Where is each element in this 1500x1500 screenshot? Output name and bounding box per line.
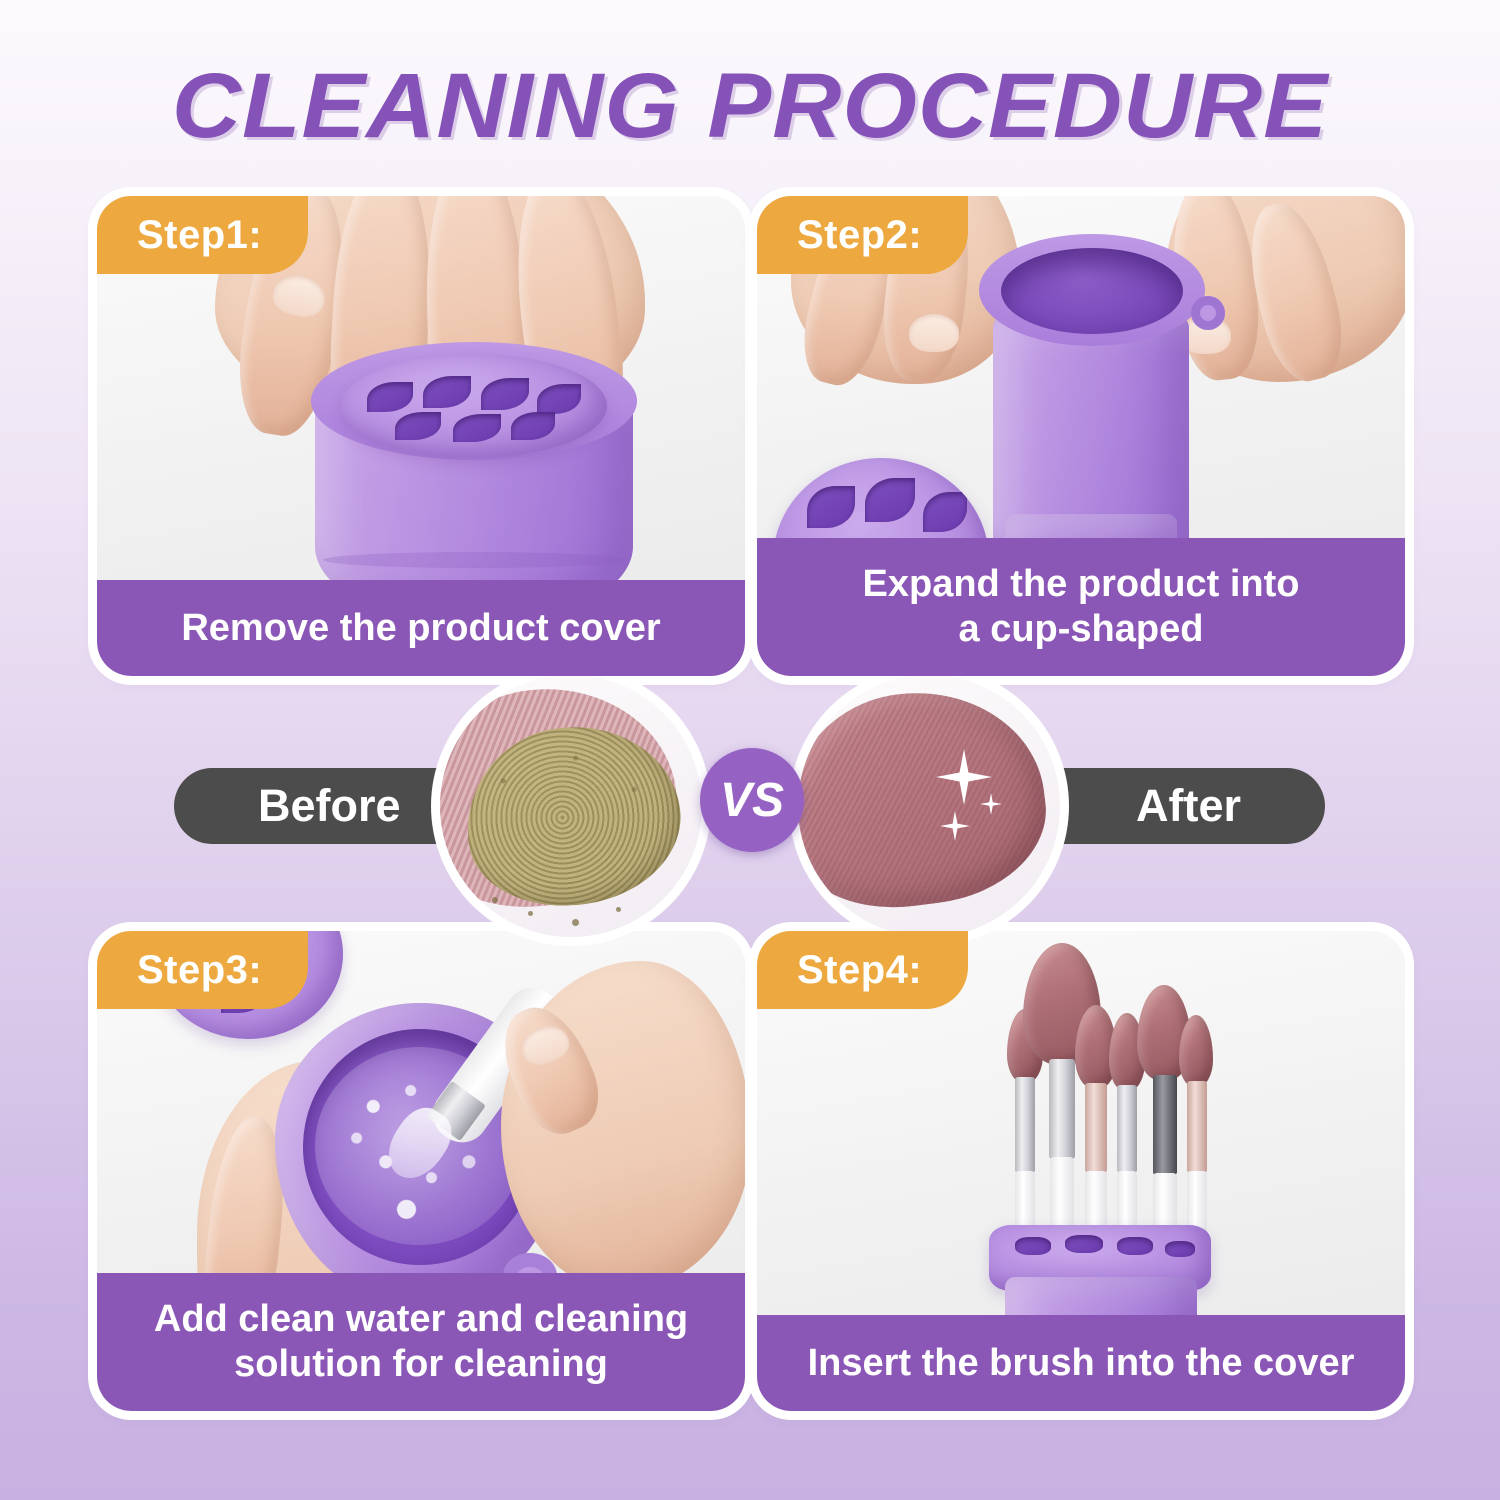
brush-ferrule [1153,1075,1177,1175]
brush-ferrule [1117,1085,1137,1173]
lid-hole [1165,1241,1195,1257]
cup-hang-loop [1191,296,1225,330]
caption-line: solution for cleaning [234,1342,608,1387]
cup-lid [341,354,607,458]
dirt-speck [528,911,533,916]
step-3-badge: Step3: [97,931,308,1009]
lid-hole [395,412,441,440]
lid-hole [367,382,413,412]
dirt-speck [572,919,579,926]
step-card-1: Step1: Remove the product cover [97,196,745,676]
step-card-2: Step2: Expand the product into a cup-sha… [757,196,1405,676]
vs-badge: VS [700,748,804,852]
after-photo [798,675,1060,937]
lid-hole [1117,1237,1153,1255]
page-title: CLEANING PROCEDURE [0,54,1500,159]
lid-hole [481,378,529,410]
before-photo [440,675,702,937]
before-label: Before [258,780,401,832]
brush-ferrule [1187,1081,1207,1173]
step-2-caption: Expand the product into a cup-shaped [757,538,1405,676]
caption-line: Add clean water and cleaning [154,1297,688,1342]
caption-line: Insert the brush into the cover [808,1341,1355,1386]
lid-hole [923,492,967,532]
brush-ferrule [1015,1077,1035,1173]
lid-hole [1015,1237,1051,1255]
cup-groove [323,552,627,568]
fingernail [909,314,959,352]
dirt-speck [616,907,621,912]
infographic-page: CLEANING PROCEDURE [0,0,1500,1500]
caption-line: Remove the product cover [181,606,660,651]
lid-hole [423,376,471,408]
lid-hole [807,486,855,528]
lid-hole [453,414,501,442]
lid-hole [537,384,581,414]
brush-ferrule [1049,1059,1075,1159]
cup-interior [1001,248,1183,334]
lid-hole [865,478,915,522]
after-photo-circle [798,675,1060,937]
caption-line: Expand the product into [863,562,1300,607]
step-card-4: Step4: Insert the brush into the cover [757,931,1405,1411]
clean-brush-bristles [798,678,1056,920]
lid-hole [1065,1235,1103,1253]
caption-line: a cup-shaped [959,607,1204,652]
after-label: After [1136,780,1241,832]
step-2-badge: Step2: [757,196,968,274]
lid-hole [511,412,555,440]
step-4-badge: Step4: [757,931,968,1009]
step-1-badge: Step1: [97,196,308,274]
step-card-3: Step3: Add clean water and cleaning solu… [97,931,745,1411]
before-photo-circle [440,675,702,937]
brush-head [1179,1015,1213,1087]
brush-ferrule [1085,1083,1107,1173]
step-4-caption: Insert the brush into the cover [757,1315,1405,1411]
step-1-caption: Remove the product cover [97,580,745,676]
step-3-caption: Add clean water and cleaning solution fo… [97,1273,745,1411]
dirt-speck [492,897,498,903]
